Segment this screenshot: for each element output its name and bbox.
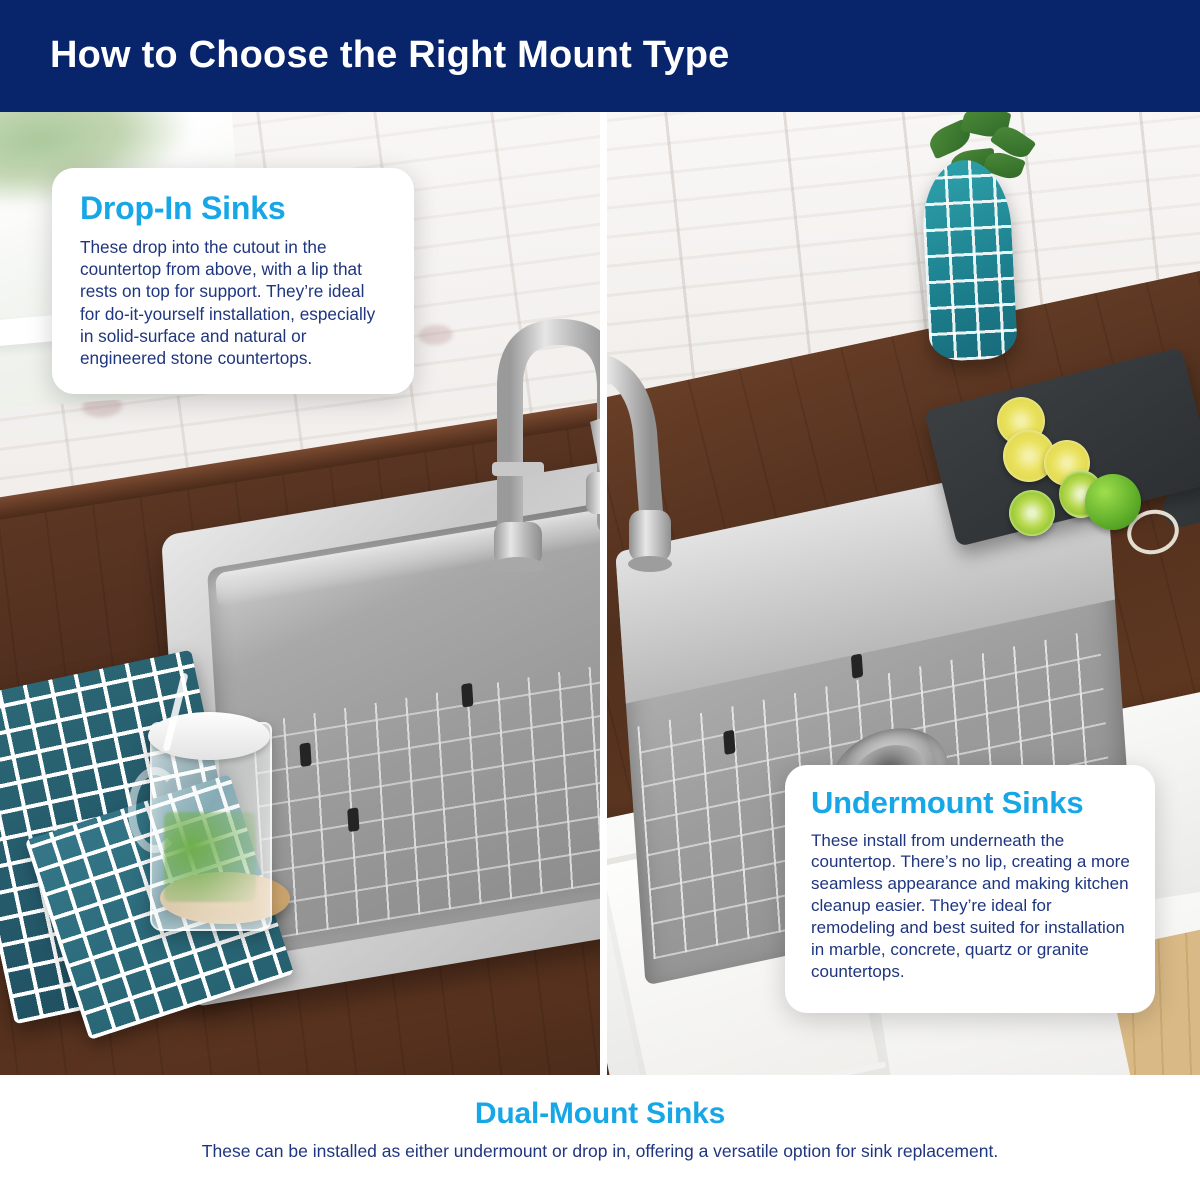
mint-leaves <box>164 812 256 902</box>
panel-divider <box>600 112 607 1075</box>
grid-foot <box>723 730 735 755</box>
infographic-page: How to Choose the Right Mount Type <box>0 0 1200 1200</box>
footer-body: These can be installed as either undermo… <box>0 1141 1200 1162</box>
page-title: How to Choose the Right Mount Type <box>50 34 729 77</box>
card-body-undermount: These install from underneath the counte… <box>811 830 1131 983</box>
card-undermount-sinks: Undermount Sinks These install from unde… <box>785 765 1155 1013</box>
card-heading-drop-in: Drop-In Sinks <box>80 192 388 226</box>
card-heading-undermount: Undermount Sinks <box>811 787 1131 820</box>
card-drop-in-sinks: Drop-In Sinks These drop into the cutout… <box>52 168 414 394</box>
header-bar: How to Choose the Right Mount Type <box>0 0 1200 112</box>
card-body-drop-in: These drop into the cutout in the counte… <box>80 236 388 370</box>
lime-slice <box>1009 490 1055 536</box>
footer-section: Dual-Mount Sinks These can be installed … <box>0 1075 1200 1200</box>
kitchen-faucet <box>470 222 600 572</box>
grid-foot <box>347 807 359 832</box>
whole-lime <box>1085 474 1141 530</box>
kitchen-faucet <box>607 352 727 602</box>
footer-heading: Dual-Mount Sinks <box>0 1075 1200 1131</box>
grid-foot <box>461 683 473 708</box>
grid-foot <box>299 742 311 767</box>
grid-foot <box>851 653 863 678</box>
